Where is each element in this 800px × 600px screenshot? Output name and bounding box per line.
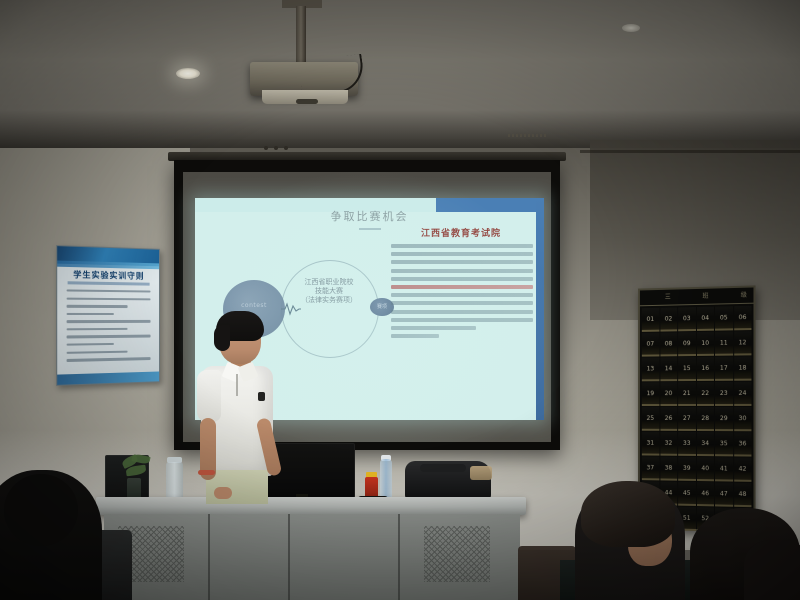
presenter-hair-side (214, 325, 230, 351)
seat-board-cell: 08 (660, 332, 677, 356)
slide-body-line (391, 293, 533, 297)
wall-poster: 学生实验实训守则 (56, 245, 160, 386)
podium-panel-seam (288, 514, 290, 600)
seat-board-cell: 40 (696, 457, 714, 481)
slide-body-line (391, 269, 533, 273)
slide-body-line (391, 318, 533, 322)
seat-board-cell: 01 (642, 308, 659, 332)
seat-board-cell: 27 (678, 407, 695, 431)
seat-board-header-cell (677, 289, 696, 304)
backpack-side-pocket (470, 466, 492, 480)
slide-body-line (391, 252, 533, 256)
seat-board-cell: 05 (715, 306, 733, 330)
slide-body-line (391, 326, 476, 330)
seat-board-cell: 02 (660, 307, 677, 331)
seat-board-cell: 21 (678, 382, 695, 406)
seat-board-cell: 29 (715, 407, 733, 431)
seat-board-cell: 23 (715, 382, 733, 406)
ceiling-downlight-icon (176, 68, 200, 79)
seat-board-cell: 15 (678, 357, 695, 381)
seat-board-cell: 17 (715, 357, 733, 381)
projector-button-icon (274, 146, 278, 150)
water-bottle (380, 459, 392, 499)
seat-board-cell: 12 (734, 331, 752, 355)
seat-board-cell: 39 (678, 457, 695, 481)
seat-board-cell: 13 (642, 357, 659, 381)
slide-body-line (391, 277, 533, 281)
seat-board-header-cell (640, 290, 659, 305)
student-left-head (4, 474, 78, 546)
poster-rule-line (67, 350, 128, 354)
slide-body-line (391, 285, 533, 289)
podium-panel-seam (398, 514, 400, 600)
presenter-shirt-placket (236, 374, 238, 396)
projector-pole-mount (296, 6, 306, 64)
seat-board-cell: 09 (678, 332, 695, 356)
podium-panel-seam (208, 514, 210, 600)
poster-rule-line (67, 328, 128, 331)
podium-vent-mesh (424, 526, 490, 582)
seat-board-cell: 03 (678, 307, 695, 331)
seat-board-cell: 19 (642, 382, 659, 406)
diagram-connector-icon (281, 302, 301, 316)
poster-rule-line (67, 313, 114, 315)
seat-board-cell: 10 (696, 332, 714, 356)
seat-board-header-cell: 班 (696, 289, 715, 304)
seat-board-cell: 14 (660, 357, 677, 381)
seat-board-cell: 30 (734, 407, 752, 431)
seat-board-cell: 47 (715, 482, 733, 506)
projector-button-icon (284, 146, 288, 150)
slide-body-line (391, 260, 533, 264)
seat-board-cell: 16 (696, 357, 714, 381)
slide-title-underline (359, 228, 381, 230)
poster-title: 学生实验实训守则 (57, 269, 159, 282)
seat-board-cell: 28 (696, 407, 714, 431)
wall-seam (580, 150, 800, 153)
seat-board-cell: 06 (734, 306, 752, 331)
seat-board-cell: 33 (678, 432, 695, 456)
seat-board-cell: 46 (696, 482, 714, 506)
seat-board-header-cell (715, 288, 734, 304)
seat-board-cell: 41 (715, 457, 733, 481)
student-center-hair (581, 481, 675, 547)
seat-board-cell: 04 (696, 307, 714, 331)
seat-board-cell: 36 (734, 432, 752, 456)
slide-accent-bar (536, 198, 544, 420)
slide-column-body (391, 244, 533, 342)
projector-vent-icon (508, 134, 548, 137)
projector-lens-icon (296, 99, 318, 104)
seat-board-cell: 22 (696, 382, 714, 406)
poster-rule-line (67, 297, 151, 300)
poster-rule-line (67, 305, 128, 308)
slide-title: 争取比赛机会 (195, 208, 544, 224)
seat-board-cell: 07 (642, 333, 659, 357)
seat-board-cell: 20 (660, 382, 677, 406)
seat-board-cell: 35 (715, 432, 733, 456)
seat-board-cell: 48 (734, 483, 752, 508)
presenter-shirt-logo-icon (258, 392, 265, 401)
backpack-strap (420, 464, 466, 472)
seat-board-cell: 24 (734, 382, 752, 406)
slide-body-line (391, 301, 533, 305)
poster-subtitle-rule (68, 281, 150, 285)
poster-rule-list (67, 289, 151, 366)
seat-board-cell: 34 (696, 432, 714, 456)
seat-board-cell: 37 (642, 456, 659, 480)
seat-board-header-cell: 三 (658, 289, 677, 304)
metal-tumbler (166, 462, 183, 500)
poster-rule-line (67, 335, 151, 338)
seat-board-cell: 26 (660, 407, 677, 431)
poster-rule-line (67, 343, 114, 346)
seat-board-cell: 38 (660, 457, 677, 481)
seat-board-cell: 45 (678, 482, 695, 506)
presenter-hand (214, 487, 232, 499)
presenter-sleeve (197, 370, 221, 422)
seat-board-cell: 18 (734, 356, 752, 380)
poster-rule-line (67, 289, 151, 292)
projector-button-icon (264, 146, 268, 150)
seat-board-cell: 25 (642, 407, 659, 431)
slide-body-line (391, 334, 439, 338)
diagram-ring-line-2: 技能大赛 (281, 287, 377, 296)
seat-board-header-cell: 级 (734, 287, 753, 303)
slide-body-line (391, 244, 533, 248)
seat-board-cell: 32 (660, 432, 677, 456)
classroom-photo: 争取比赛机会 江西省职业院校 技能大赛 （法律实务赛项） contest 赛项 … (0, 0, 800, 600)
diagram-ring-label: 江西省职业院校 技能大赛 （法律实务赛项） (281, 278, 377, 305)
student-foreground-far-right (744, 540, 800, 600)
slide-body-line (391, 310, 533, 314)
diagram-blob-label: contest (223, 302, 285, 309)
ceiling-downlight-secondary-icon (622, 24, 640, 32)
poster-rule-line (67, 357, 151, 361)
poster-rule-line (67, 320, 151, 323)
presenter-wristband (198, 470, 215, 475)
diagram-ring-line-1: 江西省职业院校 (281, 278, 377, 287)
podium-desktop (96, 497, 526, 515)
seat-board-cell: 11 (715, 331, 733, 355)
seat-board-cell: 31 (642, 432, 659, 456)
slide-column-heading: 江西省教育考试院 (391, 226, 531, 239)
seat-board-cell: 42 (734, 457, 752, 481)
